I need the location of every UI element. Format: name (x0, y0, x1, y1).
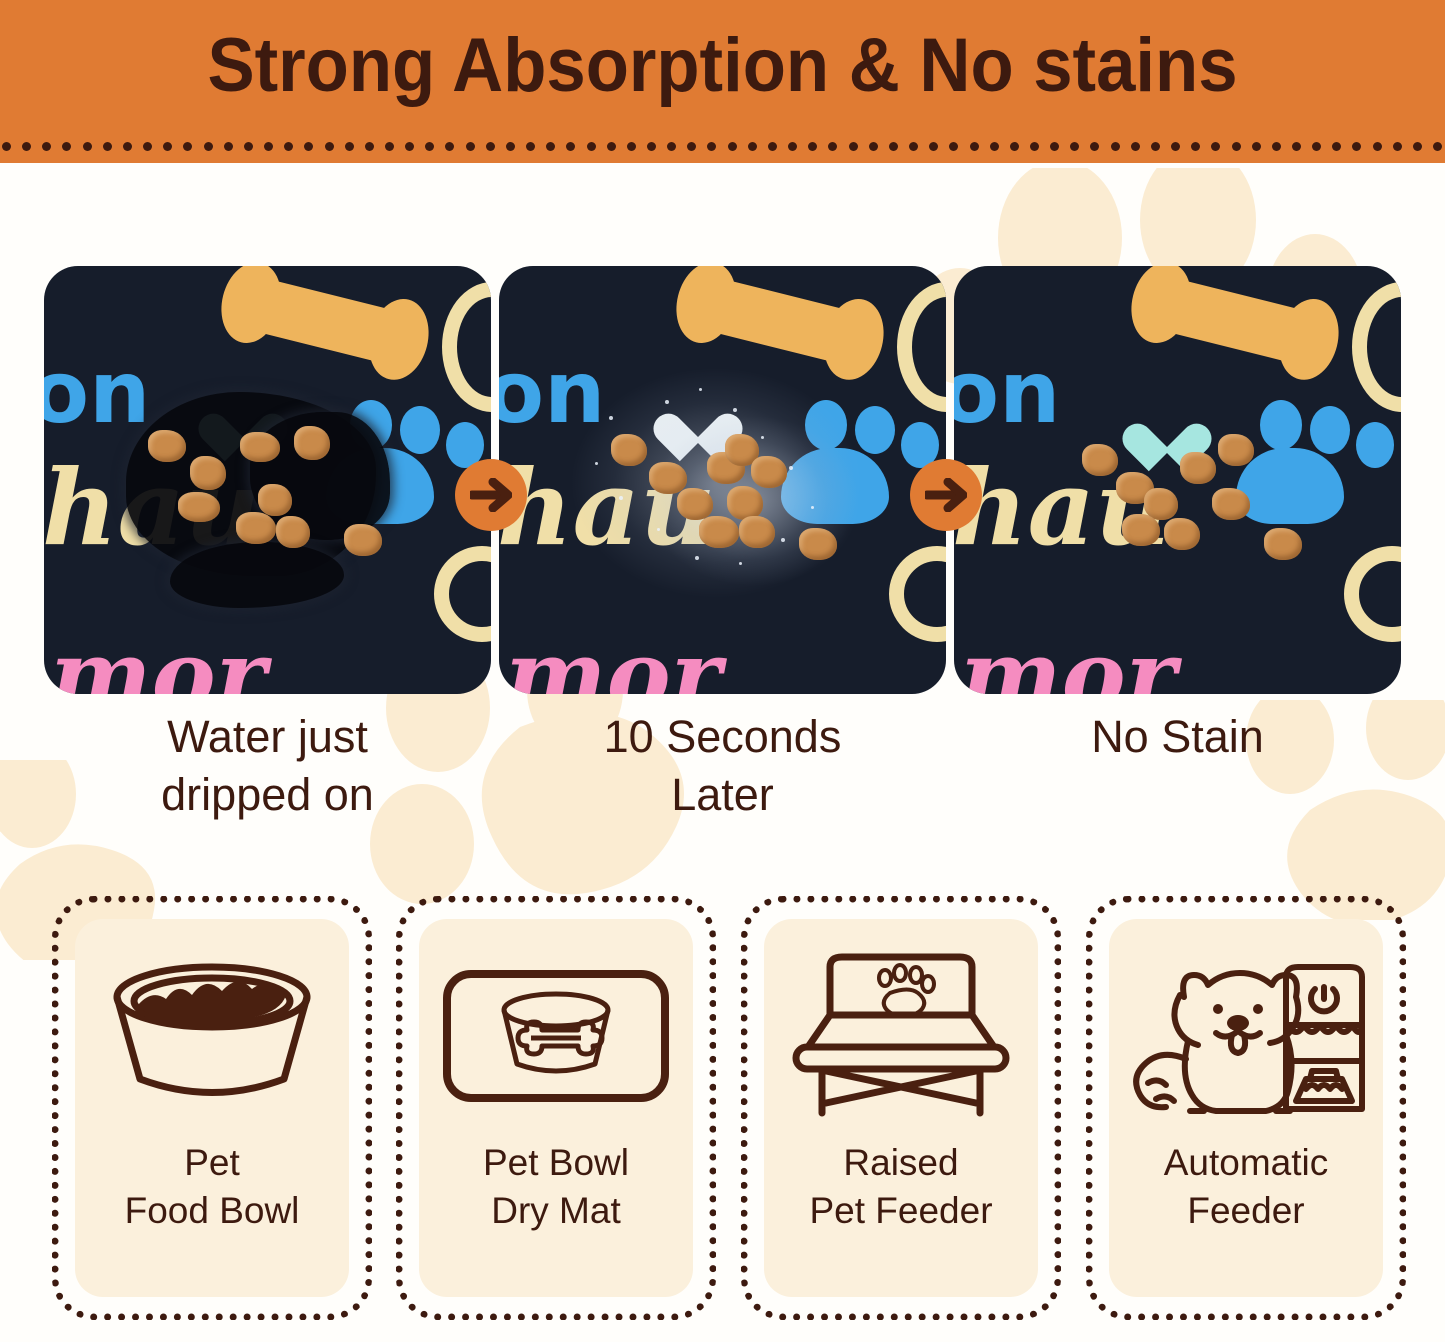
card-label: Automatic Feeder (1164, 1139, 1329, 1235)
arrow-step-1-to-2 (455, 459, 527, 531)
mat-paw-toe-1 (1260, 400, 1302, 450)
use-case-card-pet-food-bowl[interactable]: Pet Food Bowl (52, 896, 372, 1320)
kibble (276, 516, 310, 548)
kibble (1180, 452, 1216, 484)
pet-food-bowl-icon (102, 961, 322, 1111)
kibble (649, 462, 687, 494)
mat-text-on: on (954, 358, 1060, 429)
kibble (1122, 514, 1160, 546)
kibble (294, 426, 330, 460)
kibble (240, 432, 280, 462)
sparkle (761, 436, 764, 439)
infographic-page: Strong Absorption & No stains on hau mor (0, 0, 1445, 1342)
caption-line: No Stain (954, 708, 1401, 766)
use-case-cards: Pet Food Bowl Pet Bowl (0, 896, 1445, 1328)
use-case-card-automatic-feeder[interactable]: Automatic Feeder (1086, 896, 1406, 1320)
caption-line: 10 Seconds Later (499, 708, 946, 823)
mat-paw-toe-2 (400, 406, 440, 454)
card-icon-slot (419, 941, 693, 1131)
mat-swirl-top-right (897, 282, 946, 412)
kibble (727, 486, 763, 520)
pet-bowl-dry-mat-icon (441, 966, 671, 1106)
mat-text-mor: mor (960, 638, 1176, 694)
automatic-feeder-icon (1126, 951, 1366, 1121)
sparkle (609, 416, 613, 420)
kibble (344, 524, 382, 556)
sparkle (789, 466, 793, 470)
mat-paw-pad-main (1236, 448, 1344, 524)
caption-no-stain: No Stain (954, 708, 1401, 766)
mat-bone-graphic (691, 274, 869, 368)
card-inner: Raised Pet Feeder (764, 919, 1038, 1297)
demo-photo-ten-seconds: on hau mor (499, 266, 946, 694)
absorption-demo-photos: on hau mor on hau (0, 266, 1445, 696)
card-inner: Pet Food Bowl (75, 919, 349, 1297)
header-banner: Strong Absorption & No stains (0, 0, 1445, 163)
mat-bone-graphic (1146, 274, 1324, 368)
sparkle (739, 562, 742, 565)
kibble (1264, 528, 1302, 560)
page-title: Strong Absorption & No stains (51, 22, 1395, 109)
caption-ten-seconds: 10 Seconds Later (499, 708, 946, 823)
kibble (1218, 434, 1254, 466)
card-icon-slot (1109, 941, 1383, 1131)
arrow-right-icon (925, 478, 967, 512)
kibble (190, 456, 226, 490)
card-inner: Automatic Feeder (1109, 919, 1383, 1297)
demo-photo-no-stain: on hau mor (954, 266, 1401, 694)
sparkle (781, 538, 785, 542)
mat-swirl-top-right (442, 282, 491, 412)
kibble (1082, 444, 1118, 476)
caption-line: Water just dripped on (44, 708, 491, 823)
demo-photo-water-dripped: on hau mor (44, 266, 491, 694)
mat-swirl-top-right (1352, 282, 1401, 412)
caption-water-dripped: Water just dripped on (44, 708, 491, 823)
mat-paw-toe-2 (855, 406, 895, 454)
mat-swirl-bottom-right (434, 546, 491, 642)
kibble (236, 512, 276, 544)
kibble (1164, 518, 1200, 550)
sparkle (811, 506, 814, 509)
sparkle (699, 388, 702, 391)
sparkle (595, 462, 598, 465)
kibble (699, 516, 739, 548)
card-label: Raised Pet Feeder (809, 1139, 992, 1235)
mat-text-on: on (44, 358, 150, 429)
card-label: Pet Food Bowl (125, 1139, 300, 1235)
kibble (751, 456, 787, 488)
use-case-card-pet-bowl-dry-mat[interactable]: Pet Bowl Dry Mat (396, 896, 716, 1320)
card-icon-slot (764, 941, 1038, 1131)
mat-text-mor: mor (505, 638, 721, 694)
sparkle (619, 496, 623, 500)
mat-bone-graphic (236, 274, 414, 368)
kibble (739, 516, 775, 548)
mat-swirl-bottom-right (1344, 546, 1401, 642)
kibble (1212, 488, 1250, 520)
mat-paw-toe-2 (1310, 406, 1350, 454)
kibble (258, 484, 292, 516)
kibble (799, 528, 837, 560)
sparkle (665, 400, 669, 404)
card-label: Pet Bowl Dry Mat (483, 1139, 629, 1235)
mat-heart-graphic (1140, 404, 1194, 452)
dog-illustration (1136, 973, 1298, 1111)
card-inner: Pet Bowl Dry Mat (419, 919, 693, 1297)
banner-dotted-divider (0, 140, 1445, 152)
arrow-step-2-to-3 (910, 459, 982, 531)
raised-pet-feeder-icon (786, 951, 1016, 1121)
mat-swirl-bottom-right (889, 546, 946, 642)
sparkle (733, 408, 737, 412)
kibble (677, 488, 713, 520)
card-icon-slot (75, 941, 349, 1131)
mat-text-mor: mor (50, 638, 266, 694)
use-case-card-raised-pet-feeder[interactable]: Raised Pet Feeder (741, 896, 1061, 1320)
arrow-right-icon (470, 478, 512, 512)
kibble (611, 434, 647, 466)
mat-paw-toe-3 (1356, 422, 1394, 468)
sparkle (695, 556, 699, 560)
kibble (148, 430, 186, 462)
kibble (178, 492, 220, 522)
sparkle (657, 528, 660, 531)
